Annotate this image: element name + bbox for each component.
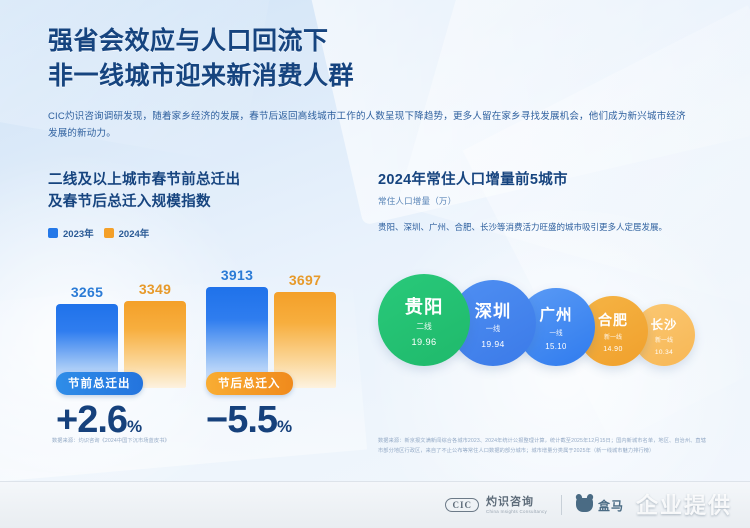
right-panel-title-text: 2024年常住人口增量前5城市: [378, 170, 708, 192]
bar-item: 3913: [206, 267, 268, 388]
logo-divider: [561, 495, 562, 515]
page-title-line-2: 非一线城市迎来新消费人群: [48, 59, 708, 94]
stat-value: −5.5: [206, 399, 277, 441]
city-name: 贵阳: [405, 293, 444, 319]
city-value: 15.10: [545, 342, 567, 351]
right-panel-title: 2024年常住人口增量前5城市: [378, 170, 708, 192]
city-tier: 新一线: [655, 335, 673, 344]
page-title: 强省会效应与人口回流下 非一线城市迎来新消费人群: [48, 24, 708, 93]
right-footnote: 数据来源：新京报文满新闻综合各城市2023、2024年统计公报整理计算，统计截至…: [378, 437, 708, 456]
city-value: 14.90: [603, 346, 623, 353]
right-panel-subtitle: 常住人口增量（万）: [378, 195, 708, 207]
bar-value: 3913: [221, 267, 253, 283]
stat-pill-label: 节后总迁入: [206, 372, 293, 395]
hema-logo-cn: 盒马: [598, 497, 624, 514]
legend-swatch-2023: [48, 228, 58, 238]
city-value: 19.96: [412, 337, 437, 347]
cic-logo-en: China Insights Consultancy: [486, 509, 547, 514]
bar-value: 3697: [289, 272, 321, 288]
city-name: 深圳: [475, 297, 511, 322]
left-panel-title-line-1: 二线及以上城市春节前总迁出: [48, 170, 358, 192]
legend-label-2024: 2024年: [119, 226, 150, 240]
cic-logo-text: 灼识咨询 China Insights Consultancy: [486, 496, 547, 514]
stat-pill-label: 节前总迁出: [56, 372, 143, 395]
stat-big-number: +2.6%: [56, 401, 143, 439]
panels: 二线及以上城市春节前总迁出 及春节后总迁入规模指数 2023年 2024年 32…: [0, 170, 750, 470]
brand-logos: CIC 灼识咨询 China Insights Consultancy 盒马: [445, 495, 624, 515]
left-footnote: 数据来源：灼识咨询《2024中国下沉市场蓝皮书》: [52, 437, 352, 447]
legend-item-2024: 2024年: [104, 226, 150, 240]
bar-item: 3697: [274, 272, 336, 387]
bar-value: 3265: [71, 284, 103, 300]
page-subtitle: CIC灼识咨询调研发现，随着家乡经济的发展，春节后返回高线城市工作的人数呈现下降…: [48, 109, 688, 142]
hema-logo: 盒马: [576, 497, 624, 514]
legend-label-2023: 2023年: [63, 226, 94, 240]
page-title-line-1: 强省会效应与人口回流下: [48, 24, 708, 59]
legend-item-2023: 2023年: [48, 226, 94, 240]
right-panel-description: 贵阳、深圳、广州、合肥、长沙等消费活力旺盛的城市吸引更多人定居发展。: [378, 221, 708, 235]
stat-before-festival: 节前总迁出 +2.6%: [56, 372, 143, 439]
cic-logo: CIC 灼识咨询 China Insights Consultancy: [445, 496, 547, 514]
city-name: 合肥: [598, 310, 628, 330]
city-name: 广州: [539, 303, 572, 325]
right-panel: 2024年常住人口增量前5城市 常住人口增量（万） 贵阳、深圳、广州、合肥、长沙…: [378, 170, 708, 372]
stat-unit: %: [127, 417, 142, 436]
city-tier: 新一线: [604, 332, 622, 341]
hema-hippo-icon: [576, 498, 593, 512]
left-panel-title: 二线及以上城市春节前总迁出 及春节后总迁入规模指数: [48, 170, 358, 214]
infographic-poster: 强省会效应与人口回流下 非一线城市迎来新消费人群 CIC灼识咨询调研发现，随着家…: [0, 0, 750, 528]
legend-swatch-2024: [104, 228, 114, 238]
city-name: 长沙: [651, 315, 678, 333]
city-bubble-1: 贵阳二线19.96: [378, 274, 470, 366]
city-value: 19.94: [481, 339, 505, 349]
city-value: 10.34: [655, 349, 673, 356]
stat-value: +2.6: [56, 399, 127, 441]
cic-mark-icon: CIC: [445, 498, 479, 512]
city-bubble-chart: 贵阳二线19.96深圳一线19.94广州一线15.10合肥新一线14.90长沙新…: [378, 252, 708, 372]
city-tier: 一线: [486, 324, 501, 334]
chart-legend: 2023年 2024年: [48, 226, 358, 240]
migration-bar-chart: 3265 3349 3913 3697: [48, 248, 348, 388]
city-tier: 二线: [416, 321, 432, 332]
bar-value: 3349: [139, 281, 171, 297]
stat-unit: %: [277, 417, 292, 436]
header: 强省会效应与人口回流下 非一线城市迎来新消费人群 CIC灼识咨询调研发现，随着家…: [48, 24, 708, 142]
left-panel-title-line-2: 及春节后总迁入规模指数: [48, 192, 358, 214]
bottom-bar: CIC 灼识咨询 China Insights Consultancy 盒马 企…: [0, 481, 750, 528]
left-panel: 二线及以上城市春节前总迁出 及春节后总迁入规模指数 2023年 2024年 32…: [48, 170, 358, 450]
watermark: 企业提供: [636, 488, 732, 520]
bar-group-after-festival: 3913 3697: [206, 267, 336, 388]
stat-after-festival: 节后总迁入 −5.5%: [206, 372, 293, 439]
city-tier: 一线: [549, 327, 562, 337]
stat-big-number: −5.5%: [206, 401, 293, 439]
cic-logo-cn: 灼识咨询: [486, 496, 547, 509]
